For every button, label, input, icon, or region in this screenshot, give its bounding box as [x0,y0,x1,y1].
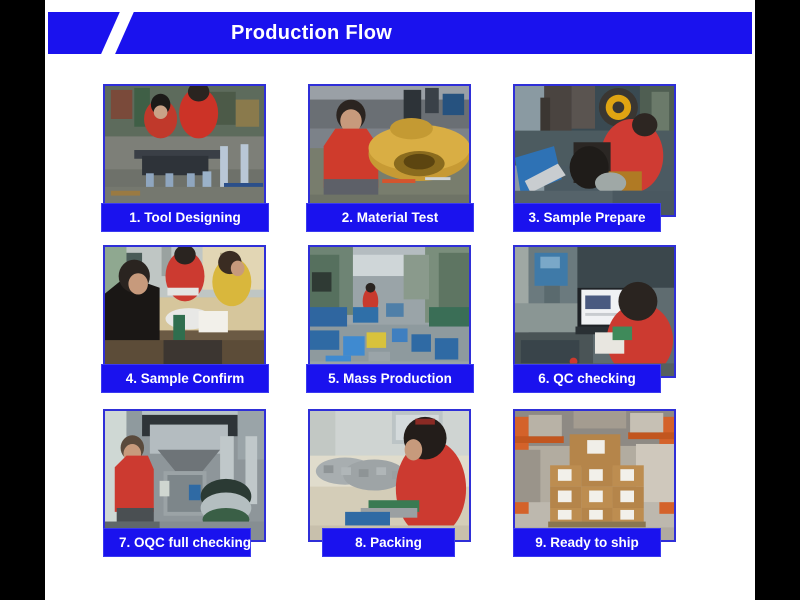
slide-stage: Production Flow [0,0,800,600]
production-flow-grid: 1. Tool Designing [45,82,755,572]
oqc-full-checking-photo-icon [105,411,264,540]
step-photo [308,245,471,378]
step-photo [513,84,676,217]
packing-photo-icon [310,411,469,540]
tool-designing-photo-icon [105,86,264,215]
step-photo [308,84,471,217]
step-label: 8. Packing [322,528,455,557]
step-label-text: 6. QC checking [538,371,636,386]
step-photo [103,245,266,378]
step-label-text: 7. OQC full checking [119,535,251,550]
step-label-text: 5. Mass Production [328,371,452,386]
step-label-text: 3. Sample Prepare [528,210,645,225]
step-label: 4. Sample Confirm [101,364,269,393]
step-photo [513,245,676,378]
step-label: 3. Sample Prepare [513,203,661,232]
step-label: 7. OQC full checking [103,528,251,557]
step-label: 9. Ready to ship [513,528,661,557]
flow-step-card[interactable]: 3. Sample Prepare [513,84,676,217]
flow-step-card[interactable]: 1. Tool Designing [103,84,266,217]
flow-step-card[interactable]: 2. Material Test [308,84,471,217]
step-label: 2. Material Test [306,203,474,232]
sample-confirm-photo-icon [105,247,264,376]
flow-step-card[interactable]: 4. Sample Confirm [103,245,266,378]
step-photo [513,409,676,542]
flow-step-card[interactable]: 9. Ready to ship [513,409,676,542]
mass-production-photo-icon [310,247,469,376]
flow-step-card[interactable]: 7. OQC full checking [103,409,266,542]
step-label-text: 1. Tool Designing [129,210,241,225]
page-title: Production Flow [48,12,752,54]
step-label-text: 8. Packing [355,535,422,550]
qc-checking-photo-icon [515,247,674,376]
step-photo [103,409,266,542]
header-banner: Production Flow [48,12,752,54]
slide-canvas: Production Flow [45,0,755,600]
step-photo [103,84,266,217]
ready-to-ship-photo-icon [515,411,674,540]
step-label: 1. Tool Designing [101,203,269,232]
step-photo [308,409,471,542]
flow-step-card[interactable]: 5. Mass Production [308,245,471,378]
step-label: 6. QC checking [513,364,661,393]
step-label-text: 2. Material Test [342,210,439,225]
step-label: 5. Mass Production [306,364,474,393]
letterbox-left [0,0,45,600]
step-label-text: 4. Sample Confirm [126,371,245,386]
letterbox-right [755,0,800,600]
step-label-text: 9. Ready to ship [535,535,639,550]
flow-step-card[interactable]: 6. QC checking [513,245,676,378]
sample-prepare-photo-icon [515,86,674,215]
material-test-photo-icon [310,86,469,215]
flow-step-card[interactable]: 8. Packing [308,409,471,542]
